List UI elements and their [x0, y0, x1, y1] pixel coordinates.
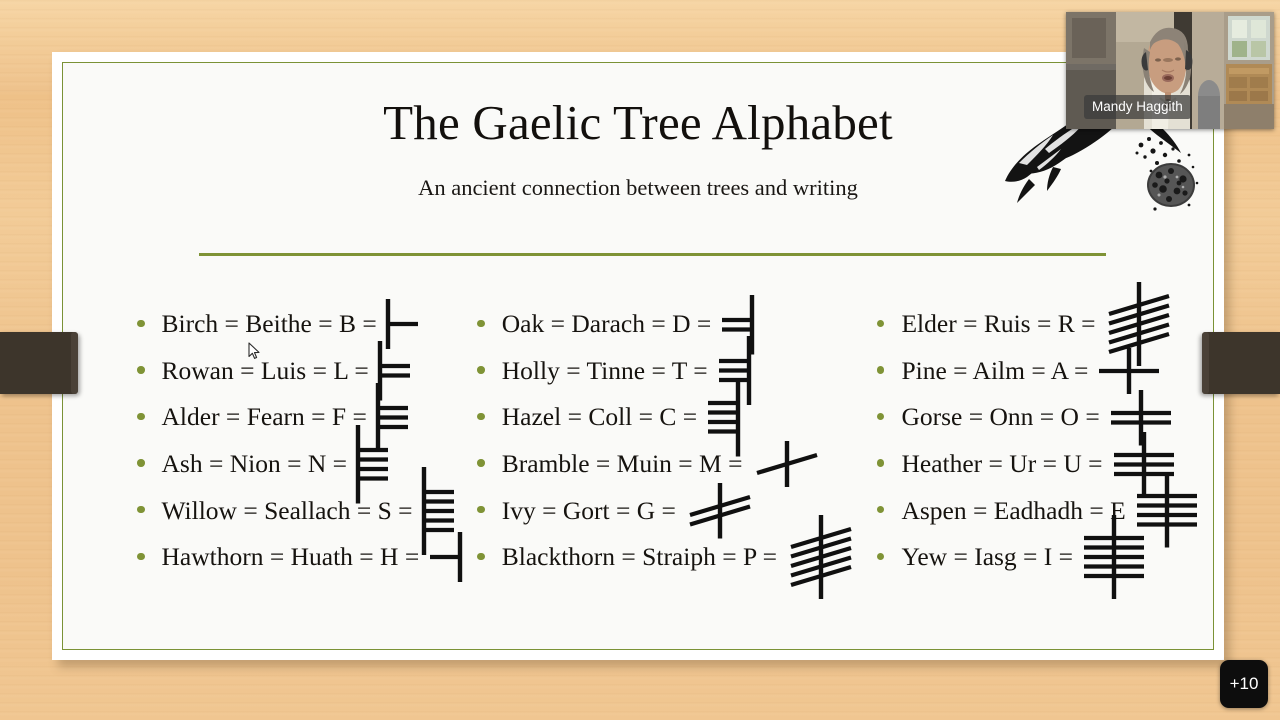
alphabet-entry-text: Rowan = Luis = L = — [162, 356, 369, 386]
list-item: Aspen = Eadhadh = E — [877, 487, 1213, 534]
alphabet-entry-text: Yew = Iasg = I = — [901, 542, 1073, 572]
list-item: Elder = Ruis = R = — [877, 301, 1213, 348]
alphabet-entry-text: Heather = Ur = U = — [901, 449, 1102, 479]
list-item: Oak = Darach = D = — [477, 301, 859, 348]
bullet-icon — [477, 366, 485, 374]
alphabet-entry-text: Elder = Ruis = R = — [901, 309, 1095, 339]
ogham-mark-a — [1094, 348, 1164, 394]
participant-video-tile[interactable]: Mandy Haggith — [1066, 12, 1274, 129]
right-edge-dark-bar — [1202, 332, 1280, 394]
list-item: Rowan = Luis = L = — [137, 348, 465, 395]
alphabet-entry-text: Holly = Tinne = T = — [502, 356, 708, 386]
bullet-icon — [877, 366, 885, 374]
bullet-icon — [477, 553, 485, 561]
ogham-mark-g — [682, 483, 758, 539]
bullet-icon — [137, 459, 145, 467]
bullet-icon — [477, 506, 485, 514]
list-item: Holly = Tinne = T = — [477, 348, 859, 395]
list-item: Pine = Ailm = A = — [877, 348, 1213, 395]
bullet-icon — [877, 320, 885, 328]
participant-name-label: Mandy Haggith — [1084, 95, 1191, 120]
bullet-icon — [477, 459, 485, 467]
ogham-mark-p — [783, 515, 859, 599]
list-item: Ash = Nion = N = — [137, 441, 465, 488]
alphabet-entry-text: Pine = Ailm = A = — [901, 356, 1088, 386]
bullet-icon — [477, 413, 485, 421]
list-item: Alder = Fearn = F = — [137, 394, 465, 441]
alphabet-entry-text: Blackthorn = Straiph = P = — [502, 542, 777, 572]
overflow-participants-badge[interactable]: +10 — [1220, 660, 1268, 708]
bullet-icon — [137, 366, 145, 374]
page-title: The Gaelic Tree Alphabet — [63, 98, 1213, 147]
bullet-icon — [877, 459, 885, 467]
slide-inner-frame: The Gaelic Tree Alphabet An ancient conn… — [62, 62, 1214, 650]
alphabet-columns: Birch = Beithe = B =Rowan = Luis = L =Al… — [63, 301, 1213, 581]
ogham-mark-c — [703, 378, 743, 457]
bullet-icon — [877, 553, 885, 561]
alphabet-entry-text: Oak = Darach = D = — [502, 309, 712, 339]
bullet-icon — [137, 553, 145, 561]
alphabet-column-3: Elder = Ruis = R =Pine = Ailm = A =Gorse… — [859, 301, 1213, 581]
alphabet-entry-text: Ash = Nion = N = — [162, 449, 348, 479]
alphabet-column-2: Oak = Darach = D =Holly = Tinne = T =Haz… — [465, 301, 859, 581]
title-divider-rule — [199, 253, 1106, 256]
list-item: Bramble = Muin = M = — [477, 441, 859, 488]
page-subtitle: An ancient connection between trees and … — [63, 175, 1213, 201]
list-item: Hawthorn = Huath = H = — [137, 534, 465, 581]
right-bar-cap — [1202, 332, 1209, 394]
presentation-slide[interactable]: The Gaelic Tree Alphabet An ancient conn… — [52, 52, 1224, 660]
ogham-mark-n — [353, 425, 393, 504]
list-item: Willow = Seallach = S = — [137, 487, 465, 534]
left-edge-dark-bar — [0, 332, 78, 394]
bullet-icon — [877, 413, 885, 421]
ogham-mark-m — [749, 441, 825, 487]
alphabet-entry-text: Ivy = Gort = G = — [502, 496, 676, 526]
list-item: Birch = Beithe = B = — [137, 301, 465, 348]
alphabet-entry-text: Gorse = Onn = O = — [901, 402, 1099, 432]
list-item: Blackthorn = Straiph = P = — [477, 534, 859, 581]
ogham-mark-i — [1079, 515, 1149, 599]
ogham-mark-h — [425, 532, 465, 582]
alphabet-entry-text: Alder = Fearn = F = — [162, 402, 367, 432]
alphabet-entry-text: Hazel = Coll = C = — [502, 402, 697, 432]
mouse-pointer-icon — [248, 342, 261, 360]
list-item: Hazel = Coll = C = — [477, 394, 859, 441]
left-bar-cap — [71, 332, 78, 394]
bullet-icon — [137, 320, 145, 328]
bullet-icon — [137, 413, 145, 421]
alphabet-entry-text: Hawthorn = Huath = H = — [162, 542, 420, 572]
bullet-icon — [137, 506, 145, 514]
alphabet-column-1: Birch = Beithe = B =Rowan = Luis = L =Al… — [63, 301, 465, 581]
bullet-icon — [877, 506, 885, 514]
bullet-icon — [477, 320, 485, 328]
alphabet-entry-text: Birch = Beithe = B = — [162, 309, 377, 339]
